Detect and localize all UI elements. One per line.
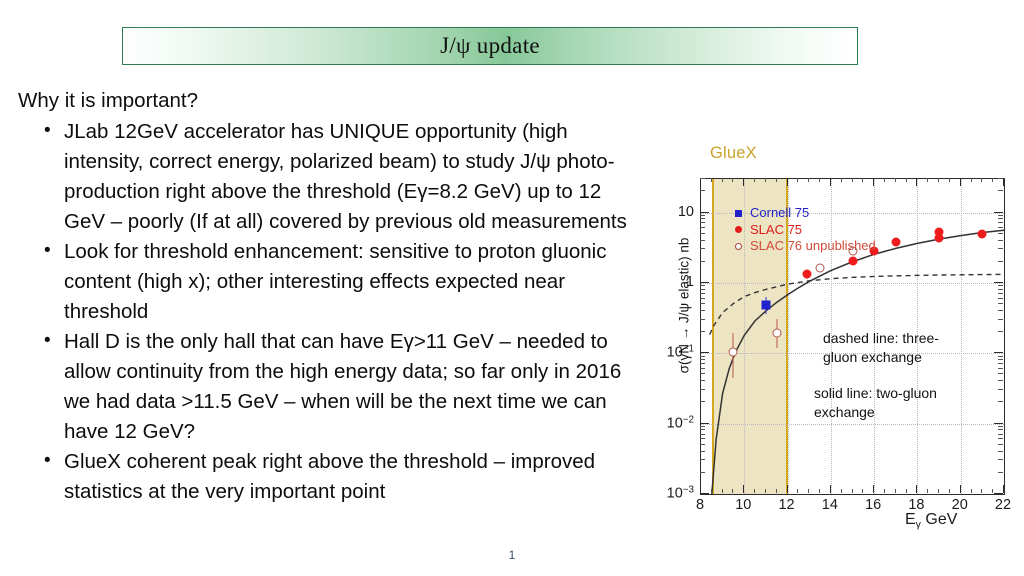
axis-tick-x-minor (808, 178, 809, 182)
axis-tick-x (960, 485, 961, 493)
page-title: J/ψ update (440, 33, 540, 59)
axis-tick-y-minor (700, 319, 705, 320)
chart-plot-area: Cornell 75 SLAC 75 SLAC 76 unpublished d… (700, 178, 1005, 495)
axis-tick-x-minor (732, 178, 733, 182)
axis-tick-y-minor (700, 368, 705, 369)
axis-tick-x-minor (884, 178, 885, 182)
marker-filled-circle (848, 256, 857, 265)
slide-body-text: Why it is important? JLab 12GeV accelera… (18, 86, 633, 507)
axis-tick-y-minor (998, 310, 1003, 311)
axis-tick-y-minor (700, 363, 705, 364)
axis-tick-y-minor (998, 359, 1003, 360)
axis-tick-x-minor (927, 489, 928, 493)
axis-tick-y-minor (998, 319, 1003, 320)
axis-tick-y-minor (998, 451, 1003, 452)
axis-tick-y-minor (998, 289, 1003, 290)
axis-tick-y-minor (700, 438, 705, 439)
axis-tick-y (994, 423, 1003, 424)
axis-tick-x-minor (841, 178, 842, 182)
marker-open-circle (772, 328, 781, 337)
legend-item-cornell-75: Cornell 75 (731, 205, 876, 222)
axis-tick-y (994, 282, 1003, 283)
y-tick-label: 1 (650, 274, 694, 290)
axis-tick-y-minor (998, 222, 1003, 223)
bullet-item-1: JLab 12GeV accelerator has UNIQUE opport… (18, 117, 633, 237)
axis-tick-y-minor (998, 459, 1003, 460)
annotation-solid-line: solid line: two-gluon exchange (814, 384, 964, 422)
axis-tick-y-minor (700, 356, 705, 357)
axis-tick-x (960, 178, 961, 186)
axis-tick-x (1003, 485, 1004, 493)
axis-tick-x-minor (981, 178, 982, 182)
annotation-dashed-line: dashed line: three-gluon exchange (823, 329, 958, 367)
axis-tick-y-minor (700, 261, 705, 262)
marker-open-circle (816, 264, 825, 273)
y-tick-label: 10−3 (650, 484, 694, 501)
bullet-item-3: Hall D is the only hall that can have Eγ… (18, 327, 633, 447)
axis-tick-y (994, 493, 1003, 494)
marker-filled-circle (935, 227, 944, 236)
x-tick-label: 10 (735, 497, 751, 513)
axis-tick-x-minor (895, 178, 896, 182)
axis-tick-x (743, 178, 744, 186)
axis-tick-y-minor (700, 233, 705, 234)
axis-tick-y-minor (998, 215, 1003, 216)
axis-tick-x-minor (732, 489, 733, 493)
x-tick-label: 20 (952, 497, 968, 513)
axis-tick-y (700, 282, 709, 283)
axis-tick-y-minor (998, 303, 1003, 304)
axis-tick-y-minor (700, 215, 705, 216)
axis-tick-y-minor (998, 389, 1003, 390)
axis-tick-y-minor (998, 293, 1003, 294)
axis-tick-x (787, 178, 788, 186)
gluex-region-label: GlueX (710, 144, 757, 163)
axis-tick-y-minor (700, 190, 705, 191)
axis-tick-x-minor (938, 178, 939, 182)
axis-tick-x-minor (862, 489, 863, 493)
axis-tick-y-minor (998, 218, 1003, 219)
legend-label-slac-76: SLAC 76 unpublished (750, 238, 876, 255)
axis-tick-y-minor (998, 401, 1003, 402)
y-tick-label: 10−2 (650, 414, 694, 431)
bullet-item-2: Look for threshold enhancement: sensitiv… (18, 237, 633, 327)
axis-tick-y-minor (998, 248, 1003, 249)
axis-tick-x-minor (754, 178, 755, 182)
axis-tick-y-minor (700, 459, 705, 460)
axis-tick-x-minor (949, 178, 950, 182)
axis-tick-y-minor (998, 363, 1003, 364)
curve-dashed (710, 274, 1004, 334)
axis-tick-y-minor (998, 380, 1003, 381)
axis-tick-y-minor (700, 380, 705, 381)
axis-tick-x-minor (808, 489, 809, 493)
axis-tick-x (1003, 178, 1004, 186)
axis-tick-y-minor (998, 438, 1003, 439)
axis-tick-x-minor (906, 489, 907, 493)
axis-tick-x-minor (906, 178, 907, 182)
page-number: 1 (0, 548, 1024, 562)
x-tick-label: 8 (696, 497, 704, 513)
axis-tick-y (700, 352, 709, 353)
axis-tick-x-minor (841, 489, 842, 493)
bullet-text-4: GlueX coherent peak right above the thre… (64, 450, 595, 503)
axis-tick-y-minor (700, 289, 705, 290)
marker-open-circle (729, 347, 738, 356)
axis-tick-y-minor (700, 303, 705, 304)
axis-tick-y-minor (700, 331, 705, 332)
axis-tick-x-minor (765, 178, 766, 182)
axis-tick-y-minor (998, 373, 1003, 374)
axis-tick-x-minor (852, 178, 853, 182)
axis-tick-x-minor (981, 489, 982, 493)
axis-tick-x-minor (992, 178, 993, 182)
axis-tick-y (700, 423, 709, 424)
axis-tick-x (700, 485, 701, 493)
axis-tick-y (700, 493, 709, 494)
axis-tick-x (873, 485, 874, 493)
legend-item-slac-75: SLAC 75 (731, 222, 876, 239)
axis-tick-x (830, 178, 831, 186)
axis-tick-y-minor (998, 233, 1003, 234)
axis-tick-y-minor (700, 434, 705, 435)
slide-title-banner: J/ψ update (122, 27, 858, 65)
bullet-list: JLab 12GeV accelerator has UNIQUE opport… (18, 117, 633, 507)
axis-tick-y-minor (700, 285, 705, 286)
gridline-horizontal (701, 494, 1004, 495)
axis-tick-y-minor (700, 359, 705, 360)
marker-filled-circle (978, 229, 987, 238)
axis-tick-x-minor (776, 489, 777, 493)
marker-filled-circle (803, 270, 812, 279)
y-tick-label: 10−1 (650, 344, 694, 361)
axis-tick-x (743, 485, 744, 493)
axis-tick-y-minor (700, 401, 705, 402)
x-tick-label: 22 (995, 497, 1011, 513)
axis-tick-x-minor (852, 489, 853, 493)
axis-tick-y (700, 212, 709, 213)
open-circle-icon (731, 243, 745, 250)
axis-tick-y-minor (998, 368, 1003, 369)
axis-tick-x (916, 178, 917, 186)
legend-label-cornell-75: Cornell 75 (750, 205, 809, 222)
legend-item-slac-76: SLAC 76 unpublished (731, 238, 876, 255)
axis-tick-x-minor (862, 178, 863, 182)
bullet-item-4: GlueX coherent peak right above the thre… (18, 447, 633, 507)
axis-tick-x-minor (711, 178, 712, 182)
axis-tick-x (830, 485, 831, 493)
chart-x-axis-label: Eγ GeV (905, 511, 957, 531)
axis-tick-y-minor (998, 178, 1003, 179)
axis-tick-y-minor (998, 429, 1003, 430)
legend-label-slac-75: SLAC 75 (750, 222, 802, 239)
axis-tick-x-minor (971, 489, 972, 493)
axis-tick-x-minor (722, 178, 723, 182)
chart-legend: Cornell 75 SLAC 75 SLAC 76 unpublished (731, 205, 876, 255)
lead-question: Why it is important? (18, 86, 633, 116)
axis-tick-y-minor (998, 331, 1003, 332)
cross-section-figure: GlueX σ(γN → J/ψ elastic) nb Eγ GeV Corn… (650, 140, 1022, 540)
axis-tick-x-minor (776, 178, 777, 182)
marker-filled-circle (891, 237, 900, 246)
axis-tick-x-minor (819, 489, 820, 493)
axis-tick-x-minor (722, 489, 723, 493)
x-tick-label: 14 (822, 497, 838, 513)
axis-tick-x-minor (819, 178, 820, 182)
axis-tick-y-minor (998, 298, 1003, 299)
axis-tick-y-minor (700, 373, 705, 374)
y-tick-label: 10 (650, 204, 694, 220)
axis-tick-y-minor (700, 227, 705, 228)
axis-tick-x-minor (754, 489, 755, 493)
axis-tick-x (873, 178, 874, 186)
axis-tick-y-minor (998, 444, 1003, 445)
axis-tick-y-minor (700, 426, 705, 427)
slide-title-banner-inner: J/ψ update (123, 28, 857, 64)
axis-tick-x-minor (949, 489, 950, 493)
axis-tick-y-minor (998, 426, 1003, 427)
axis-tick-y-minor (700, 298, 705, 299)
bullet-text-3: Hall D is the only hall that can have Eγ… (64, 330, 621, 443)
bullet-text-2: Look for threshold enhancement: sensitiv… (64, 240, 606, 323)
axis-tick-y-minor (700, 248, 705, 249)
axis-tick-x-minor (797, 178, 798, 182)
axis-tick-x-minor (711, 489, 712, 493)
filled-square-icon (731, 210, 745, 217)
axis-tick-x-minor (971, 178, 972, 182)
axis-tick-y-minor (998, 240, 1003, 241)
axis-tick-y-minor (700, 293, 705, 294)
axis-tick-x-minor (797, 489, 798, 493)
x-tick-label: 16 (865, 497, 881, 513)
axis-tick-y-minor (700, 222, 705, 223)
axis-tick-y-minor (998, 261, 1003, 262)
x-tick-label: 12 (778, 497, 794, 513)
axis-tick-y-minor (998, 285, 1003, 286)
axis-tick-y-minor (700, 451, 705, 452)
marker-filled-square (761, 301, 770, 310)
axis-tick-y-minor (700, 218, 705, 219)
filled-circle-icon (731, 226, 745, 233)
axis-tick-x-minor (765, 489, 766, 493)
axis-tick-y-minor (700, 472, 705, 473)
axis-tick-y-minor (998, 227, 1003, 228)
axis-tick-y-minor (700, 240, 705, 241)
axis-tick-x-minor (895, 489, 896, 493)
axis-tick-y-minor (998, 434, 1003, 435)
bullet-text-1: JLab 12GeV accelerator has UNIQUE opport… (64, 120, 627, 233)
axis-tick-x-minor (927, 178, 928, 182)
axis-tick-y-minor (700, 178, 705, 179)
axis-tick-x (787, 485, 788, 493)
axis-tick-x (916, 485, 917, 493)
axis-tick-y-minor (700, 389, 705, 390)
axis-tick-y (994, 212, 1003, 213)
axis-tick-y-minor (700, 310, 705, 311)
axis-tick-x-minor (884, 489, 885, 493)
axis-tick-x (700, 178, 701, 186)
axis-tick-y (994, 352, 1003, 353)
axis-tick-y-minor (700, 444, 705, 445)
axis-tick-y-minor (700, 429, 705, 430)
axis-tick-y-minor (998, 356, 1003, 357)
x-tick-label: 18 (908, 497, 924, 513)
axis-tick-y-minor (998, 190, 1003, 191)
axis-tick-y-minor (998, 472, 1003, 473)
axis-tick-x-minor (938, 489, 939, 493)
